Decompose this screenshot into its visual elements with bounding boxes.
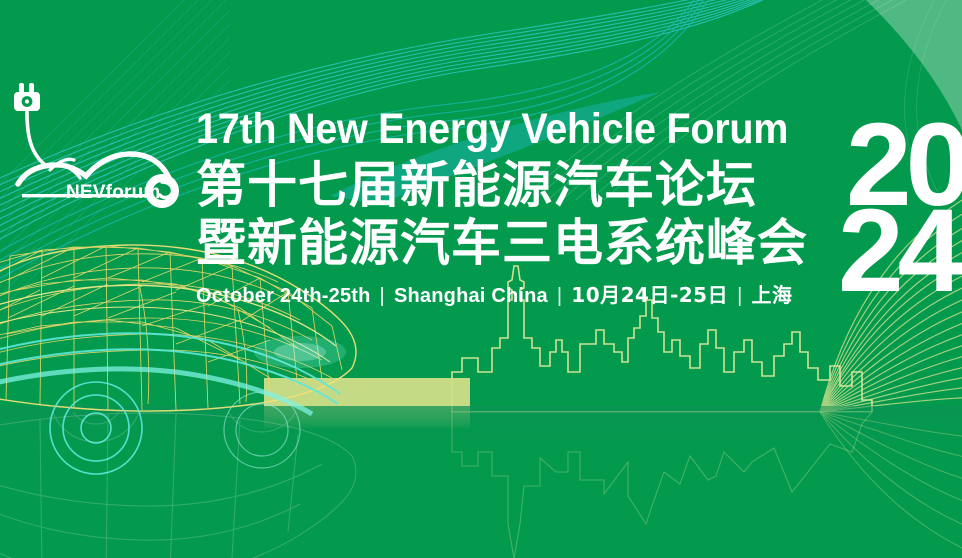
event-location-en: Shanghai China: [394, 285, 548, 307]
logo-wordmark: NEVforum: [66, 182, 161, 204]
wheel-rear: [224, 392, 300, 468]
title-chinese-line-1: 第十七届新能源汽车论坛: [196, 157, 836, 214]
logo-wordmark-forum: forum: [106, 182, 161, 203]
wheel-front: [50, 382, 142, 474]
year-bottom-digits: 24: [838, 192, 957, 310]
ground-platform-bar-reflection: [264, 406, 470, 428]
car-reflection: [0, 350, 356, 558]
skyline-reflection: [452, 412, 872, 558]
reflection-band: [0, 406, 962, 458]
logo-wordmark-nev: NEV: [66, 182, 106, 203]
event-location-cn: 上海: [752, 283, 793, 307]
meta-separator-1: |: [371, 285, 394, 307]
meta-separator-2: |: [548, 285, 571, 307]
right-waves-reflection: [820, 412, 962, 558]
meta-separator-3: |: [728, 285, 751, 307]
charging-cable-icon: [27, 112, 44, 164]
year-badge: 20 24: [838, 106, 962, 320]
title-chinese-line-2: 暨新能源汽车三电系统峰会: [196, 215, 836, 272]
event-date-cn: 10月24日-25日: [571, 283, 728, 307]
conference-banner: NEVforum 17th New Energy Vehicle Forum 第…: [0, 0, 962, 558]
title-english: 17th New Energy Vehicle Forum: [196, 104, 785, 154]
title-block: 17th New Energy Vehicle Forum 第十七届新能源汽车论…: [196, 104, 836, 308]
event-date-en: October 24th-25th: [196, 285, 371, 307]
ground-platform-bar: [264, 378, 470, 406]
charging-plug-icon: [14, 83, 40, 111]
event-meta-line: October 24th-25th|Shanghai China|10月24日-…: [196, 283, 836, 308]
